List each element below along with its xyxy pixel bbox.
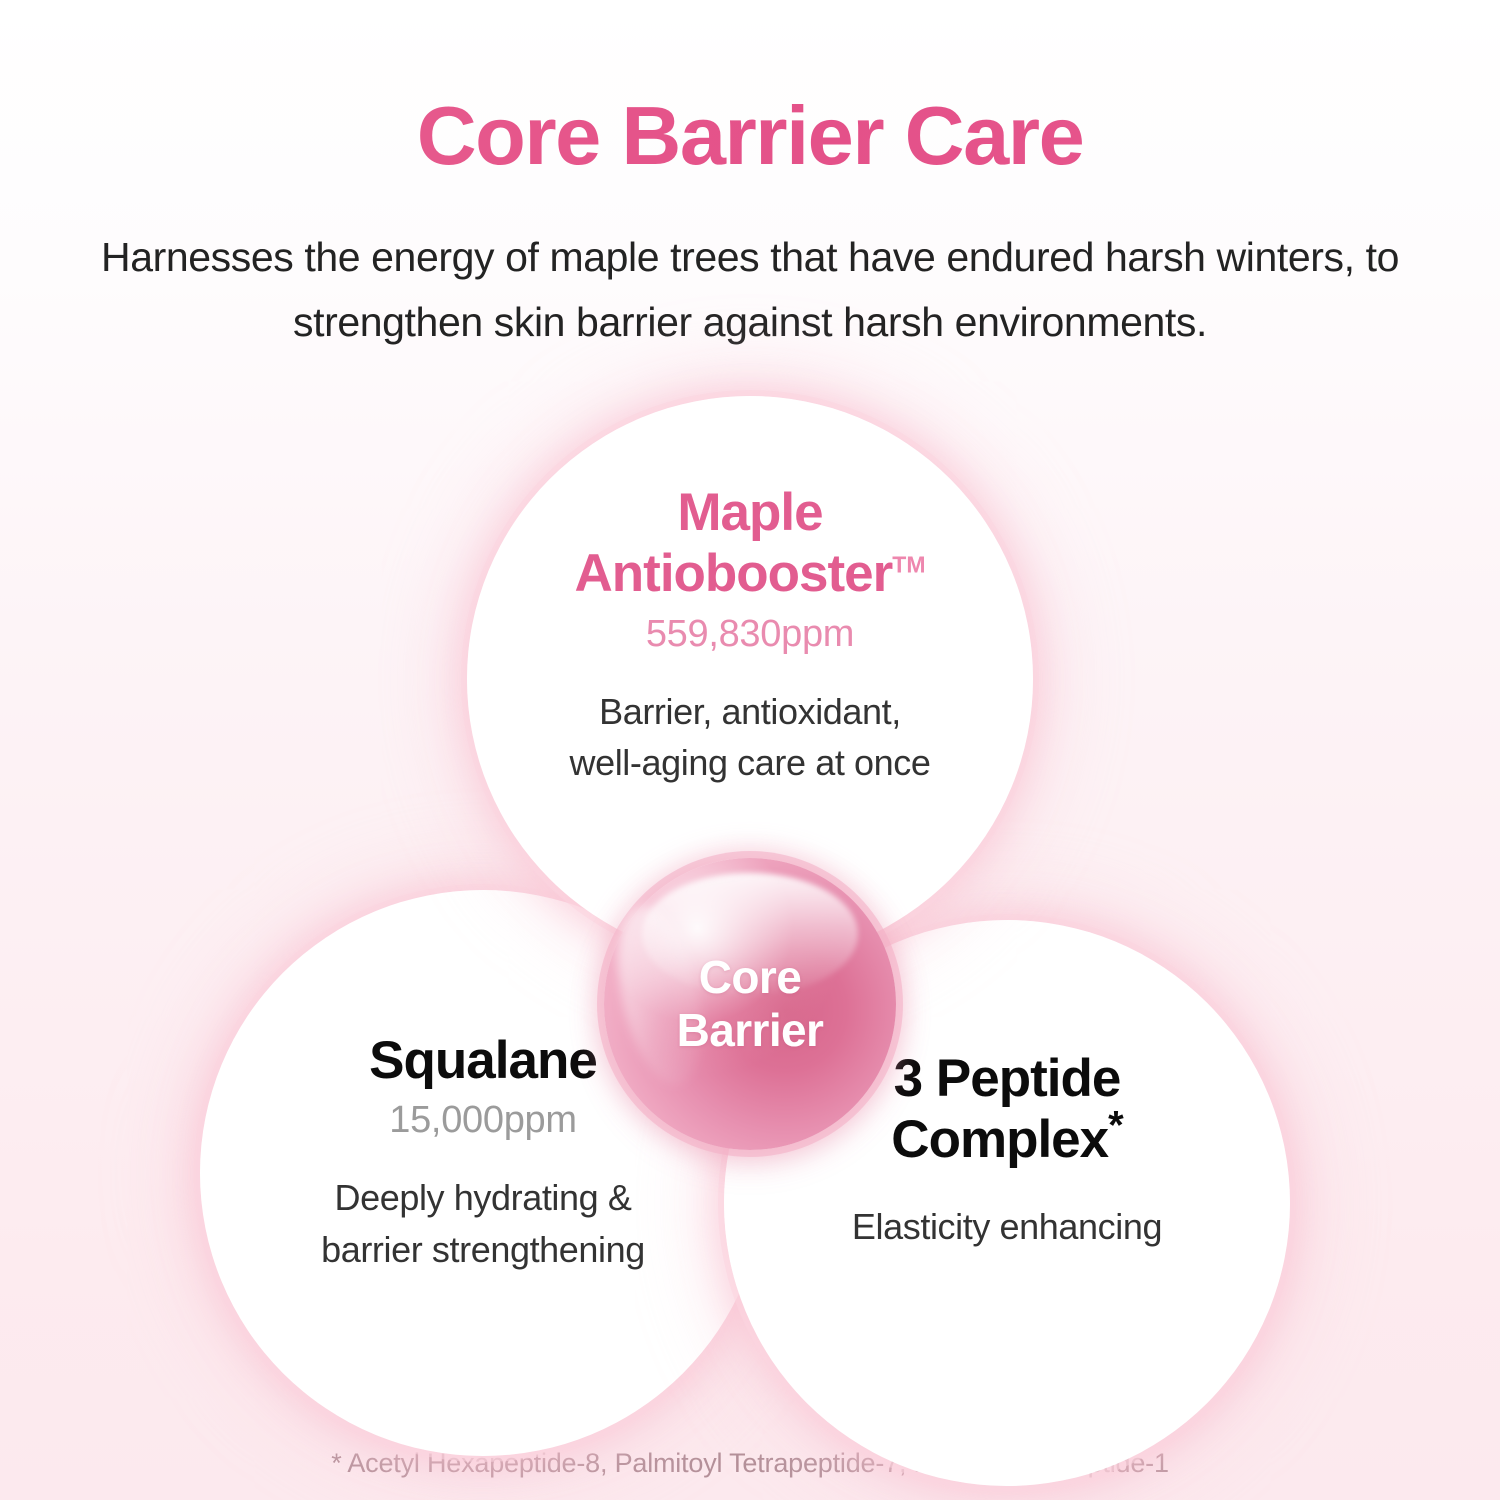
trademark-icon: TM <box>892 552 925 578</box>
ingredient-name-peptide: 3 Peptide Complex* <box>891 1048 1122 1171</box>
ingredient-name-maple-line2: Antiobooster <box>575 544 893 603</box>
venn-diagram: Maple AntioboosterTM 559,830ppm Barrier,… <box>0 0 1500 1500</box>
ingredient-description-peptide: Elasticity enhancing <box>852 1201 1162 1252</box>
core-barrier-label-line2: Barrier <box>677 1004 824 1056</box>
ingredient-description-squalane: Deeply hydrating & barrier strengthening <box>321 1172 645 1274</box>
core-barrier-label: Core Barrier <box>677 951 824 1058</box>
ingredient-concentration-squalane: 15,000ppm <box>389 1099 576 1142</box>
ingredient-name-peptide-line1: 3 Peptide <box>894 1049 1121 1108</box>
ingredient-description-maple-line1: Barrier, antioxidant, <box>599 691 901 732</box>
ingredient-description-squalane-line1: Deeply hydrating & <box>335 1177 632 1218</box>
ingredient-description-maple: Barrier, antioxidant, well-aging care at… <box>569 686 930 788</box>
core-barrier-sphere: Core Barrier <box>604 858 896 1150</box>
ingredient-concentration-maple: 559,830ppm <box>646 613 854 656</box>
infographic-canvas: Core Barrier Care Harnesses the energy o… <box>0 0 1500 1500</box>
asterisk-icon: * <box>1108 1104 1123 1148</box>
ingredient-name-maple: Maple AntioboosterTM <box>575 482 926 605</box>
ingredient-name-maple-line1: Maple <box>677 483 822 542</box>
core-barrier-label-line1: Core <box>699 951 801 1003</box>
ingredient-description-peptide-line1: Elasticity enhancing <box>852 1206 1162 1247</box>
footnote: * Acetyl Hexapeptide-8, Palmitoyl Tetrap… <box>0 1448 1500 1479</box>
ingredient-description-squalane-line2: barrier strengthening <box>321 1229 645 1270</box>
ingredient-description-maple-line2: well-aging care at once <box>569 742 930 783</box>
ingredient-name-peptide-line2: Complex <box>891 1110 1108 1169</box>
ingredient-name-squalane: Squalane <box>369 1030 597 1091</box>
